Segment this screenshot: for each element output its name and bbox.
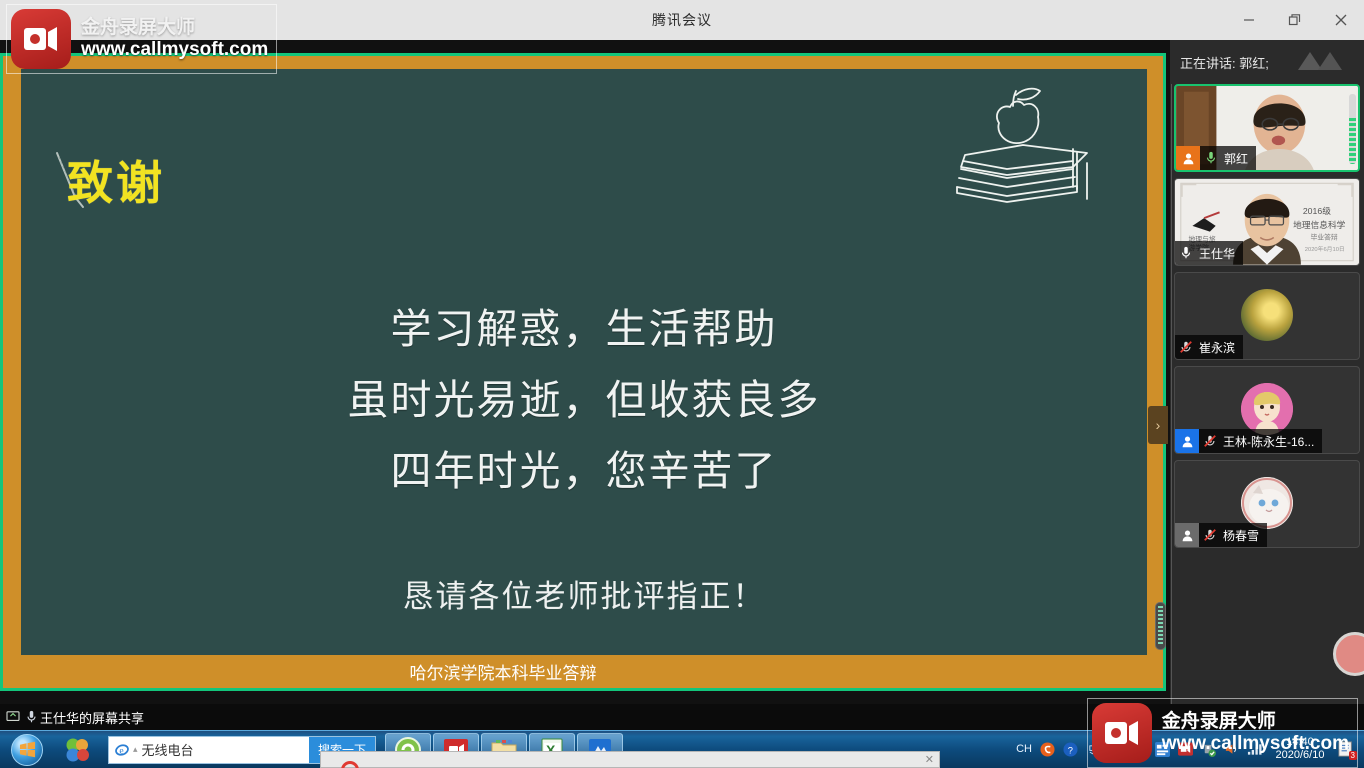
avatar <box>1241 383 1293 435</box>
slide-line: 虽时光易逝，但收获良多 <box>21 365 1147 436</box>
host-badge-icon <box>1175 429 1199 453</box>
search-input-value: 无线电台 <box>142 740 194 759</box>
ime-indicator[interactable]: CH <box>1016 743 1032 755</box>
recorder-brand-logo-icon <box>1092 703 1152 763</box>
offscreen-avatar-peek <box>1333 632 1364 676</box>
help-icon[interactable]: ? <box>1062 741 1078 757</box>
watermark-brand: 金舟录屏大师 <box>81 17 268 39</box>
tile-badges: 郭红 <box>1176 146 1256 170</box>
slide-line: 学习解惑，生活帮助 <box>21 294 1147 365</box>
slide-title: 致谢 <box>67 147 165 213</box>
mic-muted-icon <box>1199 434 1221 448</box>
chalkboard: 致谢 <box>21 69 1147 655</box>
avatar <box>1241 289 1293 341</box>
participant-tile-yangchunxue[interactable]: 杨春雪 <box>1174 460 1360 548</box>
windows-logo-icon <box>11 734 43 766</box>
mic-muted-icon <box>1175 340 1197 354</box>
watermark-top-left: 金舟录屏大师 www.callmysoft.com <box>6 4 277 74</box>
avatar <box>1241 477 1293 529</box>
audio-level-meter <box>1349 94 1356 164</box>
svg-text:2020年6月10日: 2020年6月10日 <box>1305 245 1345 253</box>
avatar-image <box>1241 477 1293 529</box>
window-title: 腾讯会议 <box>652 10 712 30</box>
window-controls <box>1226 0 1364 40</box>
svg-text:e: e <box>119 745 123 756</box>
participant-rail: 正在讲话: 郭红; <box>1170 40 1364 704</box>
mic-muted-icon <box>1199 528 1221 542</box>
avatar-image <box>1241 383 1293 435</box>
watermark-brand: 金舟录屏大师 <box>1162 711 1349 733</box>
app-root: 腾讯会议 <box>0 0 1364 768</box>
rail-divider <box>1171 84 1172 704</box>
watermark-text: 金舟录屏大师 www.callmysoft.com <box>1162 711 1349 755</box>
participant-tile-wanglin[interactable]: 王林-陈永生-16... <box>1174 366 1360 454</box>
mic-on-icon <box>1200 151 1222 165</box>
host-badge-icon <box>1176 146 1200 170</box>
tile-badges: 杨春雪 <box>1175 523 1267 547</box>
ie-icon: e <box>115 743 129 757</box>
participant-name: 崔永滨 <box>1197 339 1243 356</box>
search-input[interactable]: e ▴ 无线电台 <box>109 737 309 763</box>
tile-badges: 崔永滨 <box>1175 335 1243 359</box>
recorder-popup-icon <box>341 761 359 768</box>
sogou-icon[interactable] <box>1039 741 1055 757</box>
screen-share-icon <box>4 711 22 723</box>
restore-icon[interactable] <box>1272 0 1318 40</box>
minimize-icon[interactable] <box>1226 0 1272 40</box>
shared-screen-region: 致谢 <box>0 40 1170 704</box>
apple-on-books-icon <box>935 83 1115 213</box>
ppt-slide: 致谢 <box>3 56 1163 688</box>
screen-share-owner-label: 王仕华的屏幕共享 <box>40 708 144 727</box>
close-icon[interactable] <box>1318 0 1364 40</box>
start-button[interactable] <box>0 732 54 768</box>
watermark-text: 金舟录屏大师 www.callmysoft.com <box>81 17 268 61</box>
svg-text:地理信息科学: 地理信息科学 <box>1293 219 1346 230</box>
share-scrollbar[interactable] <box>1155 602 1166 650</box>
svg-text:2016级: 2016级 <box>1303 205 1331 216</box>
tencent-meeting-logo-icon <box>1292 48 1352 74</box>
active-speaker-bar: 正在讲话: 郭红; <box>1170 40 1364 84</box>
active-speaker-label: 正在讲话: 郭红; <box>1180 53 1269 72</box>
collapse-panel-chevron-icon[interactable]: › <box>1148 406 1168 444</box>
taskbar-360-icon[interactable] <box>55 733 101 767</box>
mic-on-icon <box>22 710 40 724</box>
svg-text:毕业答辩: 毕业答辩 <box>1311 232 1338 241</box>
participant-name: 杨春雪 <box>1221 527 1267 544</box>
slide-body-lines: 学习解惑，生活帮助 虽时光易逝，但收获良多 四年时光，您辛苦了 <box>21 294 1147 507</box>
recorder-brand-logo-icon <box>11 9 71 69</box>
watermark-url: www.callmysoft.com <box>1162 733 1349 755</box>
participant-tile-cuiyongbin[interactable]: 崔永滨 <box>1174 272 1360 360</box>
slide-footer: 哈尔滨学院本科毕业答辩 <box>3 655 1163 688</box>
watermark-bottom-right: 金舟录屏大师 www.callmysoft.com <box>1087 698 1358 768</box>
taskbar-preview-popup[interactable]: ✕ <box>320 751 940 768</box>
participant-name: 郭红 <box>1222 150 1256 167</box>
host-badge-icon <box>1175 523 1199 547</box>
participant-tile-guohong[interactable]: 郭红 <box>1174 84 1360 172</box>
participant-name: 王林-陈永生-16... <box>1221 433 1322 450</box>
close-icon[interactable]: ✕ <box>925 753 934 766</box>
svg-text:?: ? <box>1067 745 1072 755</box>
watermark-url: www.callmysoft.com <box>81 39 268 61</box>
slide-line: 四年时光，您辛苦了 <box>21 436 1147 507</box>
tile-badges: 王林-陈永生-16... <box>1175 429 1322 453</box>
tile-badges: 王仕华 <box>1175 241 1243 265</box>
participant-tile-wangshihua[interactable]: 地理与旅 游学院 2016级 地理信息科学 毕业答辩 2020年6月10日 <box>1174 178 1360 266</box>
participant-name: 王仕华 <box>1197 245 1243 262</box>
mic-on-icon <box>1175 246 1197 260</box>
slide-closing-line: 恳请各位老师批评指正！ <box>21 571 1147 616</box>
